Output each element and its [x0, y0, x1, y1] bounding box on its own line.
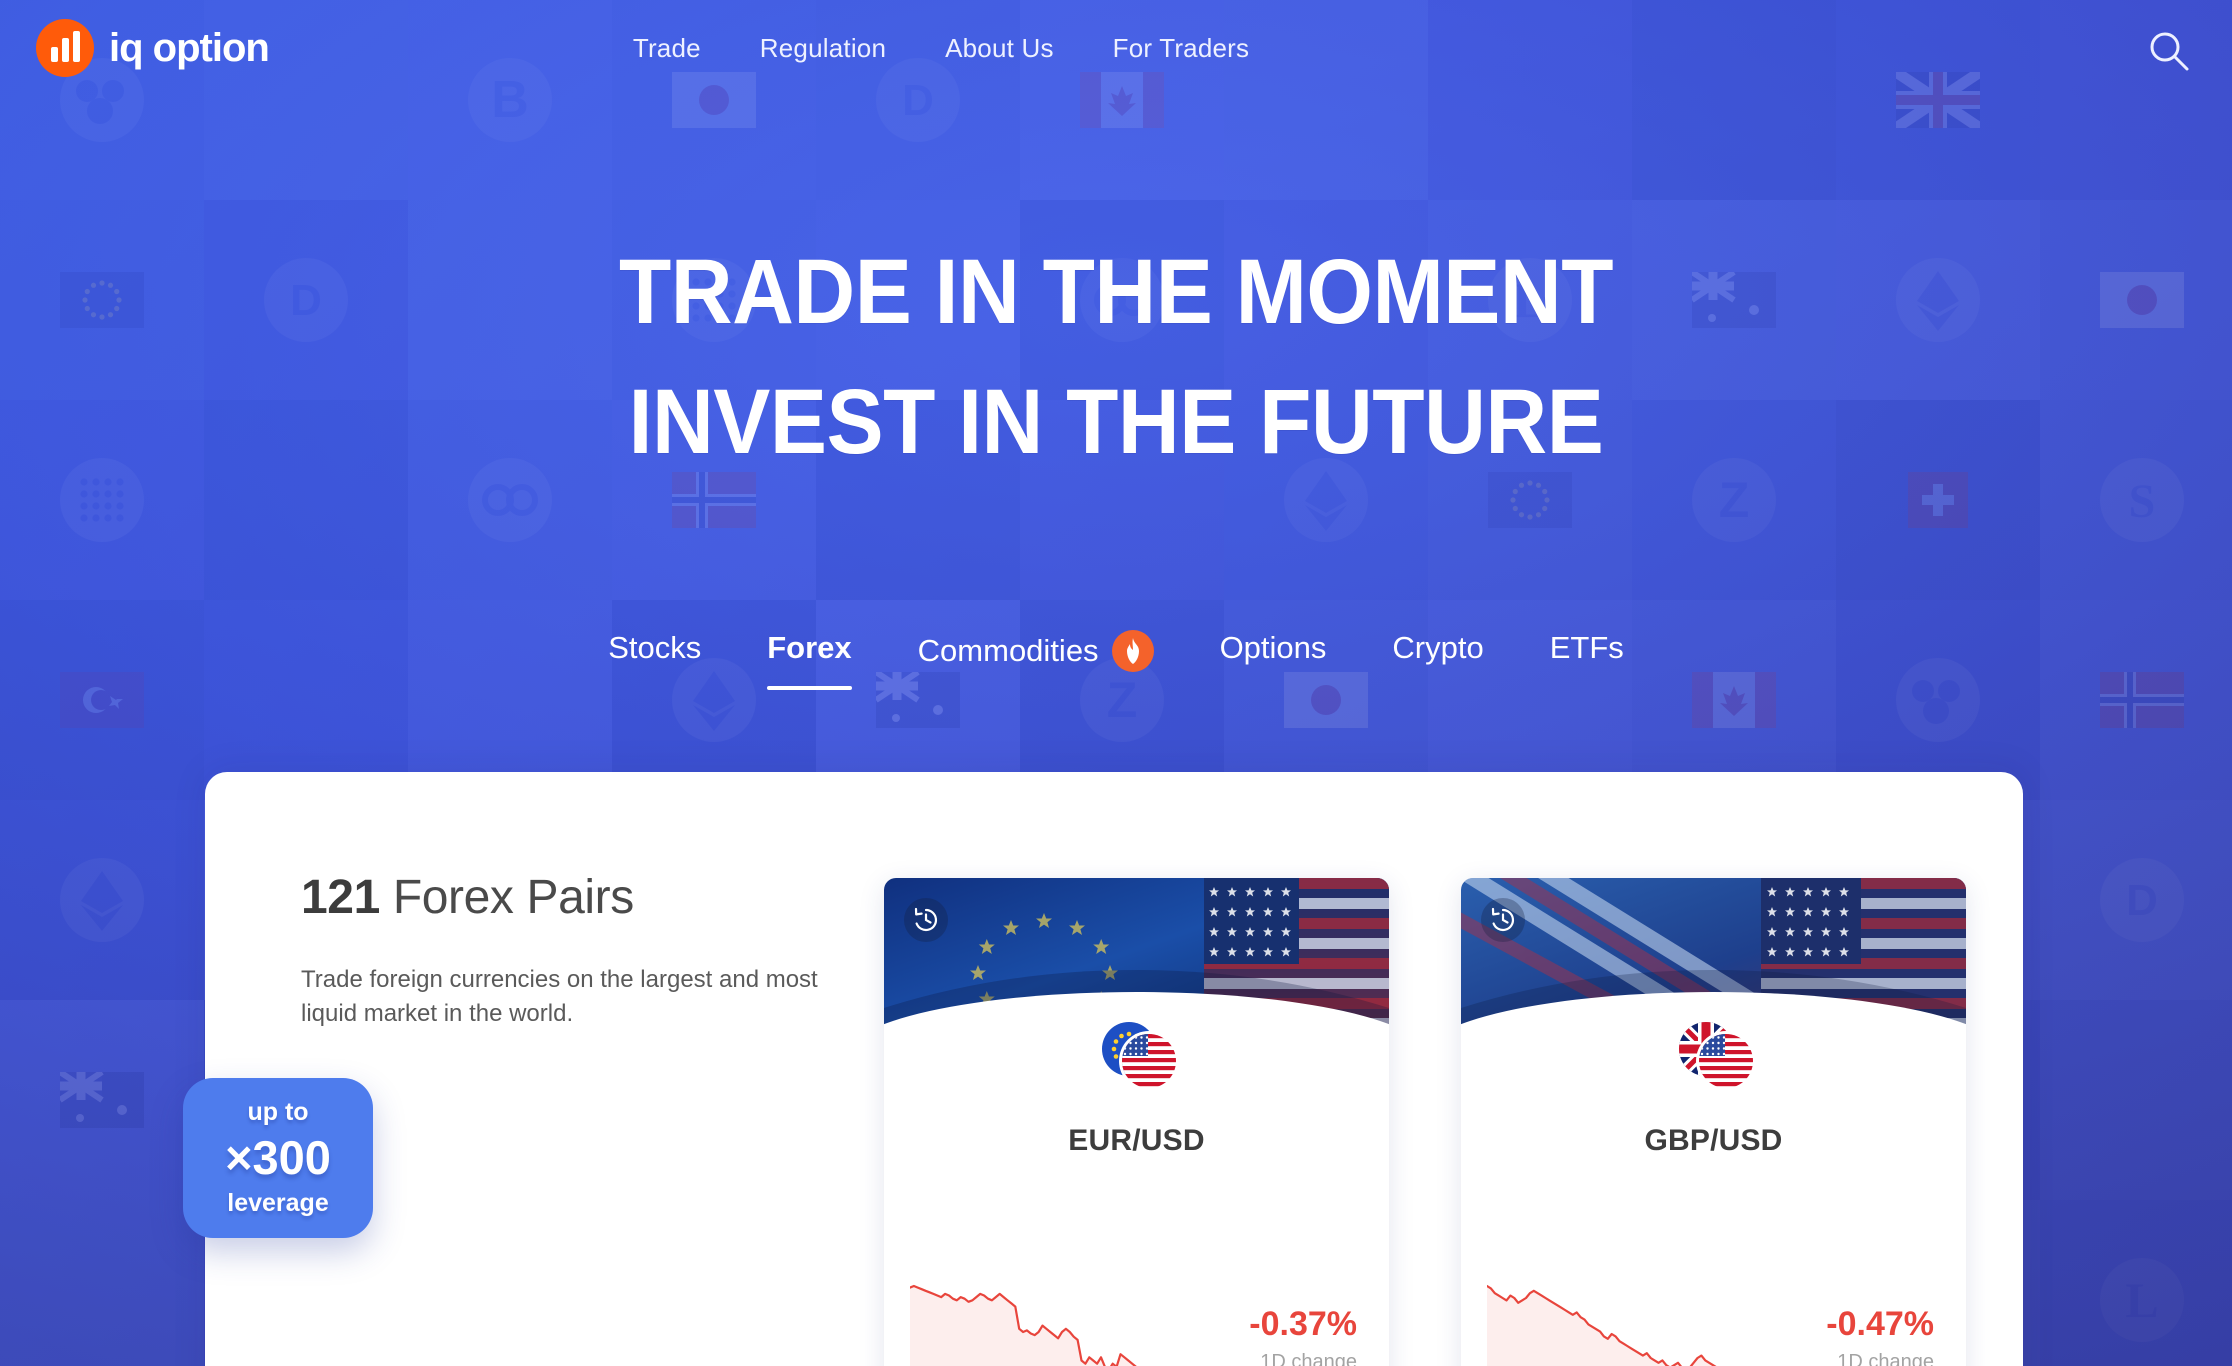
brand-name: iq option [109, 28, 269, 68]
tab-stocks[interactable]: Stocks [575, 630, 734, 666]
leverage-value: ×300 [225, 1134, 331, 1181]
change-percent: -0.37% [1249, 1307, 1357, 1341]
asset-card-list: EUR/USD-0.37%1D changeGBP/USD-0.47%1D ch… [884, 878, 1966, 1366]
nav-item-regulation[interactable]: Regulation [760, 33, 886, 64]
us-flag-icon [1122, 1034, 1176, 1088]
leverage-badge: up to ×300 leverage [183, 1078, 373, 1238]
bar-chart-icon [36, 19, 94, 77]
headline-line-2: INVEST IN THE FUTURE [78, 376, 2154, 470]
search-icon[interactable] [2146, 28, 2192, 74]
fire-icon [1112, 630, 1154, 672]
tab-active-underline [767, 686, 851, 690]
change-block: -0.37%1D change [1249, 1307, 1357, 1366]
tab-forex[interactable]: Forex [734, 630, 884, 666]
panel-description: Trade foreign currencies on the largest … [301, 963, 821, 1031]
sparkline-chart [1487, 1282, 1717, 1366]
nav-item-for-traders[interactable]: For Traders [1113, 33, 1250, 64]
change-percent: -0.47% [1826, 1307, 1934, 1341]
tab-label: Crypto [1392, 630, 1483, 666]
nav-item-about-us[interactable]: About Us [945, 33, 1054, 64]
sparkline-chart [910, 1282, 1140, 1366]
change-period-label: 1D change [1249, 1351, 1357, 1366]
card-footer: -0.47%1D change [1461, 1282, 1966, 1366]
tab-label: Commodities [918, 633, 1099, 669]
avatar [1091, 1006, 1183, 1098]
pair-count-suffix: Forex Pairs [380, 871, 634, 924]
headline-line-1: TRADE IN THE MOMENT [78, 246, 2154, 340]
panel-text-block: 121 Forex Pairs Trade foreign currencies… [301, 870, 841, 1031]
avatar [1668, 1006, 1760, 1098]
asset-pair-name: EUR/USD [884, 1124, 1389, 1158]
asset-card[interactable]: GBP/USD-0.47%1D change [1461, 878, 1966, 1366]
leverage-bottom-label: leverage [227, 1191, 328, 1216]
brand-logo[interactable]: iq option [36, 19, 269, 77]
change-block: -0.47%1D change [1826, 1307, 1934, 1366]
card-footer: -0.37%1D change [884, 1282, 1389, 1366]
pair-count-value: 121 [301, 871, 380, 924]
hero-headline: TRADE IN THE MOMENT INVEST IN THE FUTURE [0, 246, 2232, 470]
asset-pair-name: GBP/USD [1461, 1124, 1966, 1158]
history-clock-icon[interactable] [1481, 898, 1525, 942]
history-clock-icon[interactable] [904, 898, 948, 942]
asset-card[interactable]: EUR/USD-0.37%1D change [884, 878, 1389, 1366]
asset-class-tabs: StocksForexCommoditiesOptionsCryptoETFs [0, 630, 2232, 672]
site-header: iq option Trade Regulation About Us For … [0, 0, 2232, 96]
tab-label: Options [1220, 630, 1327, 666]
nav-item-trade[interactable]: Trade [633, 33, 701, 64]
tab-commodities[interactable]: Commodities [885, 630, 1187, 672]
tab-crypto[interactable]: Crypto [1359, 630, 1516, 666]
tab-etfs[interactable]: ETFs [1517, 630, 1657, 666]
change-period-label: 1D change [1826, 1351, 1934, 1366]
tab-label: Forex [767, 630, 851, 666]
page-title: 121 Forex Pairs [301, 870, 841, 925]
tab-label: Stocks [608, 630, 701, 666]
main-navigation: Trade Regulation About Us For Traders [633, 33, 1249, 64]
tab-label: ETFs [1550, 630, 1624, 666]
leverage-top-label: up to [247, 1100, 308, 1125]
tab-options[interactable]: Options [1187, 630, 1360, 666]
us-flag-icon [1699, 1034, 1753, 1088]
